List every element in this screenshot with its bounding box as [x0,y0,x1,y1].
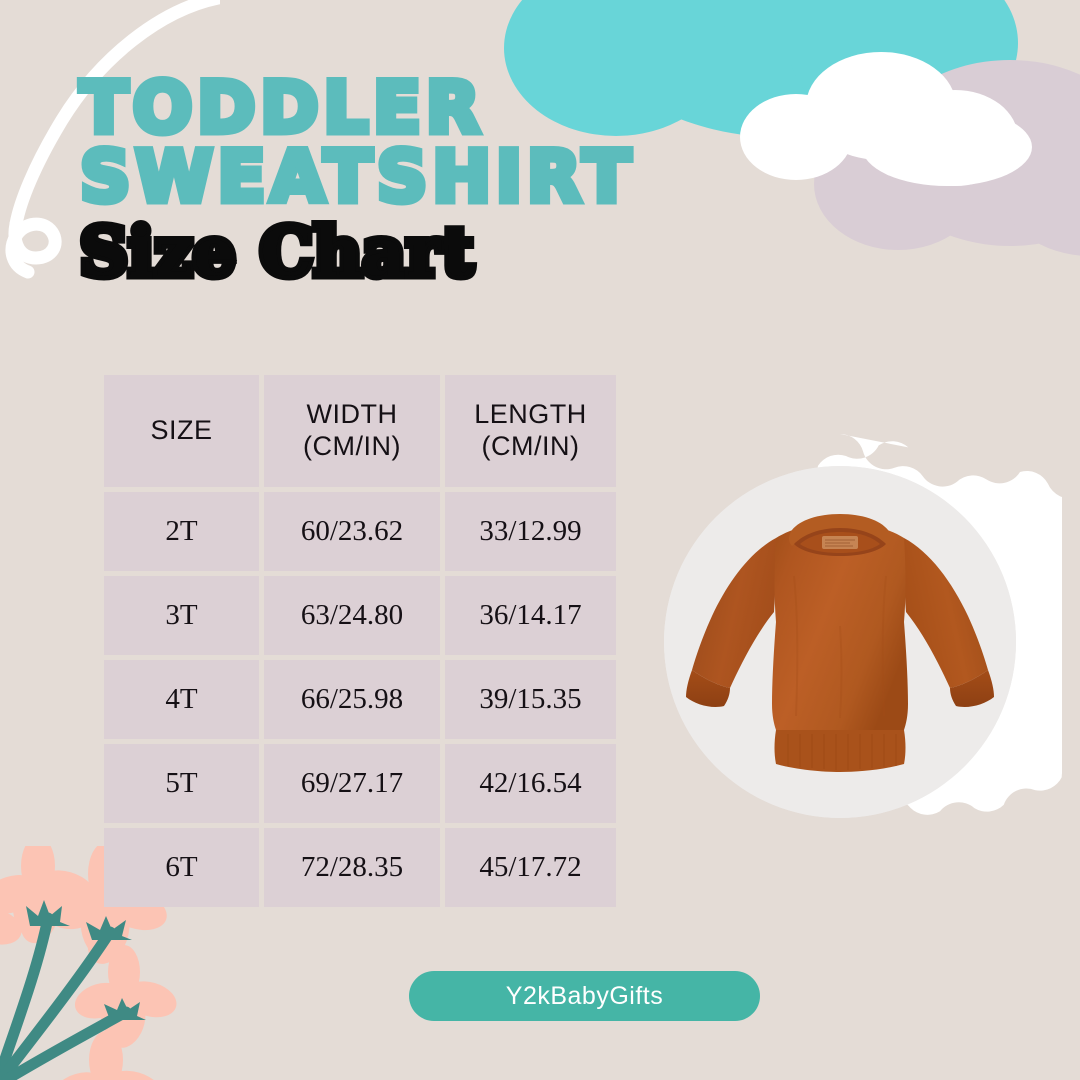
cell-width: 66/25.98 [264,660,440,739]
brand-badge-label: Y2kBabyGifts [506,982,663,1011]
cell-width: 72/28.35 [264,828,440,907]
cell-size: 6T [104,828,259,907]
page-title: TODDLER SWEATSHIRT Size Chart [80,74,740,285]
column-header-size-label: SIZE [150,415,212,445]
table-row: 4T 66/25.98 39/15.35 [104,660,616,739]
cell-size: 4T [104,660,259,739]
cell-size: 3T [104,576,259,655]
cell-width: 69/27.17 [264,744,440,823]
table-head: SIZE WIDTH (CM/IN) LENGTH (CM/IN) [104,375,616,487]
cell-length: 39/15.35 [445,660,616,739]
table-row: 3T 63/24.80 36/14.17 [104,576,616,655]
table-body: 2T 60/23.62 33/12.99 3T 63/24.80 36/14.1… [104,492,616,907]
cell-size: 5T [104,744,259,823]
sweatshirt-illustration [664,466,1016,818]
cell-length: 33/12.99 [445,492,616,571]
cell-length: 42/16.54 [445,744,616,823]
table-header-row: SIZE WIDTH (CM/IN) LENGTH (CM/IN) [104,375,616,487]
title-teal: TODDLER SWEATSHIRT [80,74,740,211]
column-header-size: SIZE [104,375,259,487]
column-header-width-unit: (CM/IN) [264,431,440,463]
brand-badge[interactable]: Y2kBabyGifts [409,971,760,1021]
cell-length: 36/14.17 [445,576,616,655]
column-header-length-label: LENGTH [474,399,587,429]
cell-size: 2T [104,492,259,571]
column-header-length-unit: (CM/IN) [445,431,616,463]
subtitle-size-chart: Size Chart [80,219,740,285]
column-header-width: WIDTH (CM/IN) [264,375,440,487]
table-row: 2T 60/23.62 33/12.99 [104,492,616,571]
table-row: 6T 72/28.35 45/17.72 [104,828,616,907]
size-chart-table: SIZE WIDTH (CM/IN) LENGTH (CM/IN) 2T 60/… [99,370,621,912]
cell-width: 63/24.80 [264,576,440,655]
product-photo [664,466,1016,818]
column-header-length: LENGTH (CM/IN) [445,375,616,487]
cell-length: 45/17.72 [445,828,616,907]
column-header-width-label: WIDTH [307,399,398,429]
table-row: 5T 69/27.17 42/16.54 [104,744,616,823]
poster-canvas: TODDLER SWEATSHIRT Size Chart SIZE WIDTH… [0,0,1080,1080]
product-image-frame [618,420,1062,864]
title-line-2: SWEATSHIRT [80,143,740,212]
cell-width: 60/23.62 [264,492,440,571]
cloud-white-lobe-icon [862,108,1032,186]
